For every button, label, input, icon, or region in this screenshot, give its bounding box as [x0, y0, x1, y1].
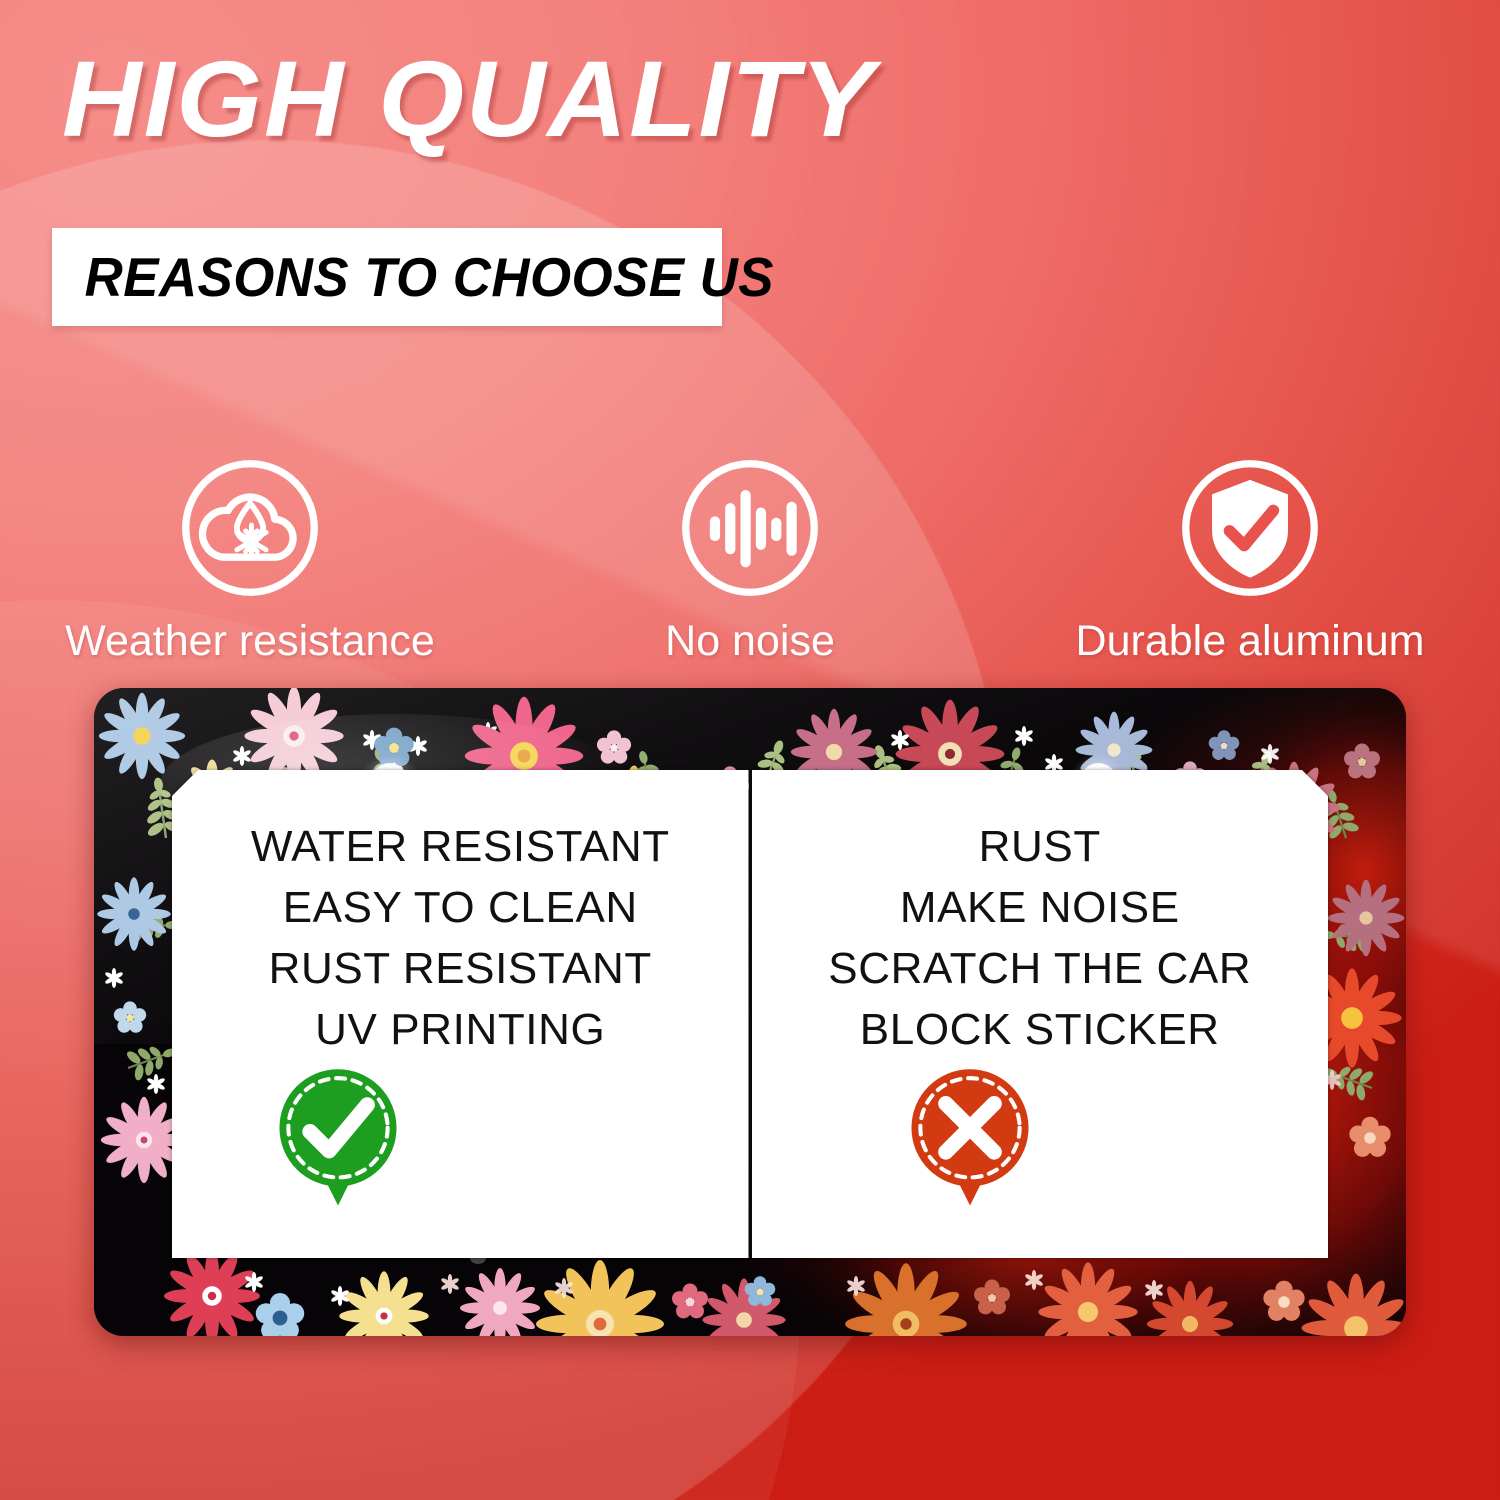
feature-label: Durable aluminum	[1076, 617, 1425, 666]
check-badge	[268, 1068, 408, 1208]
pros-list: WATER RESISTANT EASY TO CLEAN RUST RESIS…	[172, 818, 749, 1059]
feature-list: Weather resistance No noise Du	[0, 455, 1500, 666]
panel-divider	[749, 770, 752, 1258]
license-plate-frame: WATER RESISTANT EASY TO CLEAN RUST RESIS…	[94, 688, 1406, 1336]
list-item: MAKE NOISE	[900, 879, 1180, 937]
feature-weather-resistance: Weather resistance	[0, 455, 500, 666]
subtitle-text: REASONS TO CHOOSE US	[52, 245, 774, 309]
list-item: UV PRINTING	[315, 1001, 605, 1059]
list-item: WATER RESISTANT	[251, 818, 670, 876]
subtitle-banner: REASONS TO CHOOSE US	[52, 228, 722, 326]
list-item: RUST RESISTANT	[269, 940, 652, 998]
cloud-droplet-snowflake-icon	[177, 455, 323, 601]
cross-badge	[900, 1068, 1040, 1208]
feature-durable-aluminum: Durable aluminum	[1000, 455, 1500, 666]
feature-label: Weather resistance	[65, 617, 435, 666]
page-title: HIGH QUALITY	[62, 44, 876, 154]
list-item: BLOCK STICKER	[860, 1001, 1220, 1059]
list-item: EASY TO CLEAN	[283, 879, 638, 937]
feature-no-noise: No noise	[500, 455, 1000, 666]
pros-panel: WATER RESISTANT EASY TO CLEAN RUST RESIS…	[172, 770, 749, 1258]
shield-check-icon	[1177, 455, 1323, 601]
sound-wave-icon	[677, 455, 823, 601]
cons-list: RUST MAKE NOISE SCRATCH THE CAR BLOCK ST…	[752, 818, 1329, 1059]
list-item: RUST	[979, 818, 1101, 876]
feature-label: No noise	[665, 617, 835, 666]
list-item: SCRATCH THE CAR	[828, 940, 1251, 998]
